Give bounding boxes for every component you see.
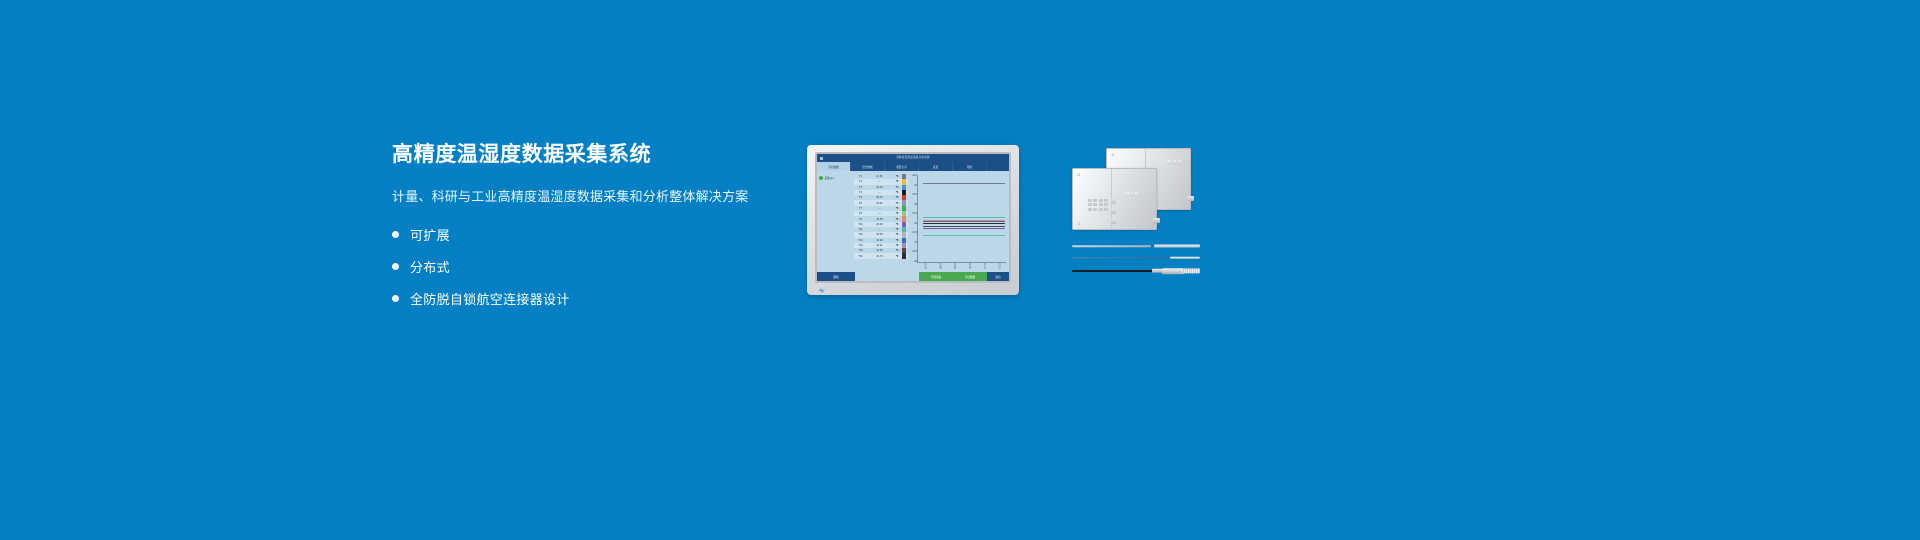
acquisition-module-front: INON bbox=[1072, 168, 1157, 230]
channel-unit: ℃ bbox=[892, 233, 902, 236]
x-tick-label: 10:40 bbox=[938, 263, 940, 271]
channel-value: 20.61 bbox=[867, 202, 892, 205]
channel-id: T5 bbox=[854, 196, 867, 199]
chart-series-line bbox=[923, 226, 1005, 227]
channel-id: T6 bbox=[854, 202, 867, 205]
channel-value: 20.12 bbox=[867, 196, 892, 199]
black-cable-humidity-probe bbox=[1072, 268, 1200, 274]
channel-value: 24.90 bbox=[867, 249, 892, 252]
x-tick-label: 10:50 bbox=[953, 263, 955, 271]
monitor-screen-frame: 高精度温湿度采集分析系统 实时数据 历史数据 报警记录 设置 帮助 采集仪-1 … bbox=[815, 152, 1011, 283]
tab-history[interactable]: 历史数据 bbox=[851, 162, 885, 171]
statusbar-spacer bbox=[855, 272, 919, 281]
connector-lug-icon bbox=[1153, 218, 1160, 223]
channel-value: 21.81 bbox=[867, 175, 892, 178]
device-tree: 采集仪-1 bbox=[817, 171, 854, 272]
table-row[interactable]: T1621.74℃ bbox=[854, 253, 908, 258]
feature-label: 分布式 bbox=[410, 257, 450, 276]
tab-settings[interactable]: 设置 bbox=[919, 162, 953, 171]
trend-chart: 24.52423.52322.52221.52120.520 10:3010:4… bbox=[908, 171, 1009, 272]
channel-id: T16 bbox=[854, 255, 867, 258]
feature-label: 全防脱自锁航空连接器设计 bbox=[410, 289, 570, 308]
channel-unit: ℃ bbox=[892, 223, 902, 226]
channel-unit: ℃ bbox=[892, 196, 902, 199]
tree-item-device[interactable]: 采集仪-1 bbox=[817, 175, 854, 181]
channel-unit: ℃ bbox=[892, 180, 902, 183]
channel-unit: ℃ bbox=[892, 202, 902, 205]
channel-value: --- bbox=[867, 212, 892, 215]
connector-lug-icon bbox=[1187, 196, 1194, 201]
chart-series-line bbox=[923, 223, 1005, 224]
channel-unit: ℃ bbox=[892, 244, 902, 247]
work-area: 采集仪-1 T121.81℃T2---℃T324.19℃T4---℃T520.1… bbox=[817, 171, 1009, 272]
channel-unit: ℃ bbox=[892, 218, 902, 221]
tab-help[interactable]: 帮助 bbox=[953, 162, 987, 171]
software-screen: 高精度温湿度采集分析系统 实时数据 历史数据 报警记录 设置 帮助 采集仪-1 … bbox=[817, 154, 1009, 281]
bullet-icon bbox=[392, 263, 399, 270]
channel-id: T11 bbox=[854, 228, 867, 231]
channel-unit: ℃ bbox=[892, 249, 902, 252]
channel-value: 24.58 bbox=[867, 218, 892, 221]
channel-value: 21.74 bbox=[867, 255, 892, 258]
bolt-icon bbox=[1077, 222, 1080, 225]
channel-id: T9 bbox=[854, 218, 867, 221]
status-dot-icon bbox=[819, 176, 823, 180]
chart-x-axis: 10:3010:4010:5011:0011:1011:20 bbox=[917, 263, 1006, 271]
x-tick-label: 10:30 bbox=[923, 263, 925, 271]
bolt-icon bbox=[1077, 173, 1080, 176]
hardware-product-image: INON INON bbox=[1062, 140, 1202, 300]
channel-value: 24.28 bbox=[867, 239, 892, 242]
channel-unit: ℃ bbox=[892, 239, 902, 242]
chart-series-line bbox=[923, 221, 1005, 222]
x-tick-label: 11:20 bbox=[997, 263, 999, 271]
channel-table[interactable]: T121.81℃T2---℃T324.19℃T4---℃T520.12℃T620… bbox=[854, 171, 908, 272]
channel-value: --- bbox=[867, 180, 892, 183]
chart-series-line bbox=[923, 235, 1005, 236]
channel-id: T12 bbox=[854, 233, 867, 236]
tree-item-label: 采集仪-1 bbox=[825, 176, 835, 180]
feature-list: 可扩展 分布式 全防脱自锁航空连接器设计 bbox=[392, 225, 812, 308]
series-color-swatch bbox=[902, 253, 906, 258]
exit-button[interactable]: 退出 bbox=[987, 272, 1009, 281]
page-title: 高精度温湿度数据采集系统 bbox=[392, 142, 812, 168]
channel-id: T7 bbox=[854, 207, 867, 210]
bolt-icon bbox=[1111, 153, 1114, 156]
channel-unit: ℃ bbox=[892, 212, 902, 215]
x-tick-label: 11:10 bbox=[983, 263, 985, 271]
channel-id: T8 bbox=[854, 212, 867, 215]
window-title: 高精度温湿度采集分析系统 bbox=[817, 154, 1009, 162]
tab-bar: 实时数据 历史数据 报警记录 设置 帮助 bbox=[817, 162, 1009, 171]
channel-id: T14 bbox=[854, 244, 867, 247]
channel-unit: ℃ bbox=[892, 175, 902, 178]
status-bar: 刷新 开始采集 导出数据 退出 bbox=[817, 272, 1009, 281]
export-data-button[interactable]: 导出数据 bbox=[953, 272, 987, 281]
port-array-icon bbox=[1088, 199, 1108, 211]
channel-unit: ℃ bbox=[892, 186, 902, 189]
channel-id: T3 bbox=[854, 186, 867, 189]
bullet-icon bbox=[392, 295, 399, 302]
channel-value: 25.46 bbox=[867, 233, 892, 236]
jack-array-icon bbox=[1111, 198, 1116, 224]
blue-sheath-probe bbox=[1072, 256, 1200, 259]
channel-value: --- bbox=[867, 191, 892, 194]
channel-unit: ℃ bbox=[892, 255, 902, 258]
channel-id: T1 bbox=[854, 175, 867, 178]
feature-label: 可扩展 bbox=[410, 225, 450, 244]
channel-value: --- bbox=[867, 207, 892, 210]
chart-plot-area bbox=[917, 175, 1006, 263]
app-titlebar: 高精度温湿度采集分析系统 bbox=[817, 154, 1009, 162]
channel-value: 24.46 bbox=[867, 223, 892, 226]
start-capture-button[interactable]: 开始采集 bbox=[919, 272, 953, 281]
connector-body-icon bbox=[1162, 268, 1184, 274]
channel-value: --- bbox=[867, 228, 892, 231]
channel-id: T2 bbox=[854, 180, 867, 183]
channel-unit: ℃ bbox=[892, 207, 902, 210]
channel-id: T10 bbox=[854, 223, 867, 226]
list-item: 分布式 bbox=[392, 257, 812, 276]
channel-value: 24.11 bbox=[867, 244, 892, 247]
channel-id: T4 bbox=[854, 191, 867, 194]
panel-pc-product-image: 高精度温湿度采集分析系统 实时数据 历史数据 报警记录 设置 帮助 采集仪-1 … bbox=[807, 145, 1019, 295]
bullet-icon bbox=[392, 231, 399, 238]
braided-temperature-probe bbox=[1072, 244, 1200, 248]
sensor-head-icon bbox=[1182, 268, 1200, 273]
channel-unit: ℃ bbox=[892, 191, 902, 194]
list-item: 可扩展 bbox=[392, 225, 812, 244]
channel-id: T15 bbox=[854, 249, 867, 252]
chart-y-axis: 24.52423.52322.52221.52120.520 bbox=[910, 174, 917, 263]
probe-tip-icon bbox=[1154, 245, 1200, 248]
banner-copy: 高精度温湿度数据采集系统 计量、科研与工业高精度温湿度数据采集和分析整体解决方案… bbox=[392, 142, 812, 308]
monitor-foot bbox=[807, 283, 1019, 295]
x-tick-label: 11:00 bbox=[968, 263, 970, 271]
chart-series-line bbox=[923, 228, 1005, 229]
vendor-mark-icon bbox=[818, 288, 825, 293]
channel-unit: ℃ bbox=[892, 228, 902, 231]
channel-id: T13 bbox=[854, 239, 867, 242]
tab-realtime[interactable]: 实时数据 bbox=[817, 162, 851, 171]
page-subtitle: 计量、科研与工业高精度温湿度数据采集和分析整体解决方案 bbox=[392, 186, 812, 205]
brand-label: INON bbox=[1123, 191, 1139, 196]
chart-series-line bbox=[923, 217, 1005, 218]
brand-label: INON bbox=[1166, 159, 1182, 164]
tab-alarms[interactable]: 报警记录 bbox=[885, 162, 919, 171]
list-item: 全防脱自锁航空连接器设计 bbox=[392, 289, 812, 308]
refresh-button[interactable]: 刷新 bbox=[817, 272, 855, 281]
probe-tip-icon bbox=[1170, 256, 1200, 258]
chart-series-line bbox=[923, 183, 1005, 184]
channel-value: 24.19 bbox=[867, 186, 892, 189]
